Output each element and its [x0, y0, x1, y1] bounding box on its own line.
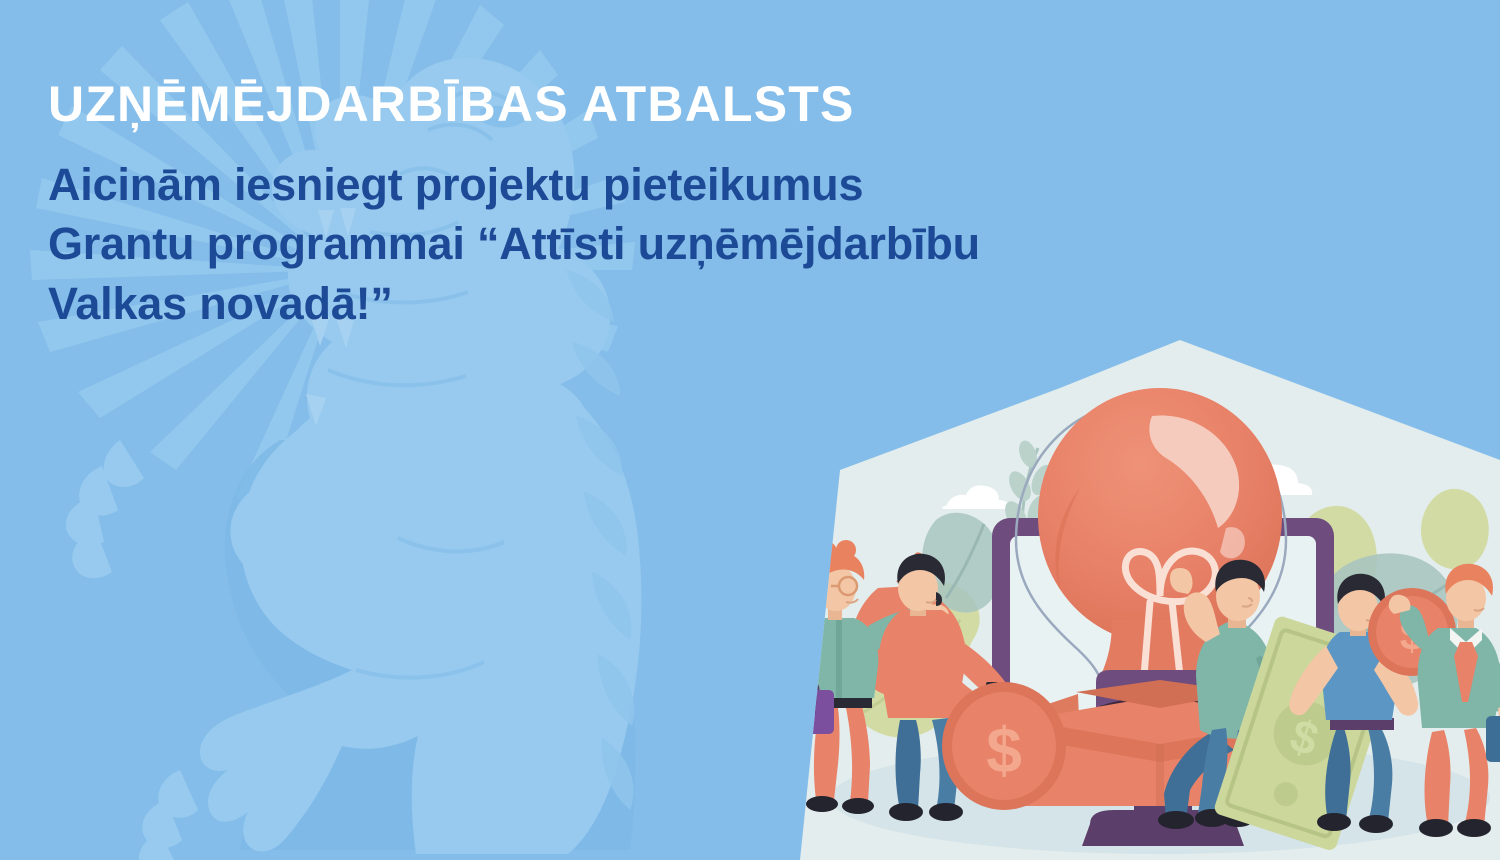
business-grant-funding-illustration: $ — [760, 320, 1500, 860]
banner-subtitle: Aicinām iesniegt projektu pieteikumus Gr… — [48, 155, 1428, 335]
banner-root: UZŅĒMĒJDARBĪBAS ATBALSTS Aicinām iesnieg… — [0, 0, 1500, 860]
banner-text-block: UZŅĒMĒJDARBĪBAS ATBALSTS Aicinām iesnieg… — [48, 78, 1428, 334]
subtitle-line-3: Valkas novadā!” — [48, 274, 1428, 334]
subtitle-line-2: Grantu programmai “Attīsti uzņēmējdarbīb… — [48, 214, 1428, 274]
dollar-coin-icon: $ — [942, 682, 1066, 810]
subtitle-line-1: Aicinām iesniegt projektu pieteikumus — [48, 155, 1428, 215]
svg-text:$: $ — [986, 714, 1022, 786]
page-title: UZŅĒMĒJDARBĪBAS ATBALSTS — [48, 78, 1428, 131]
